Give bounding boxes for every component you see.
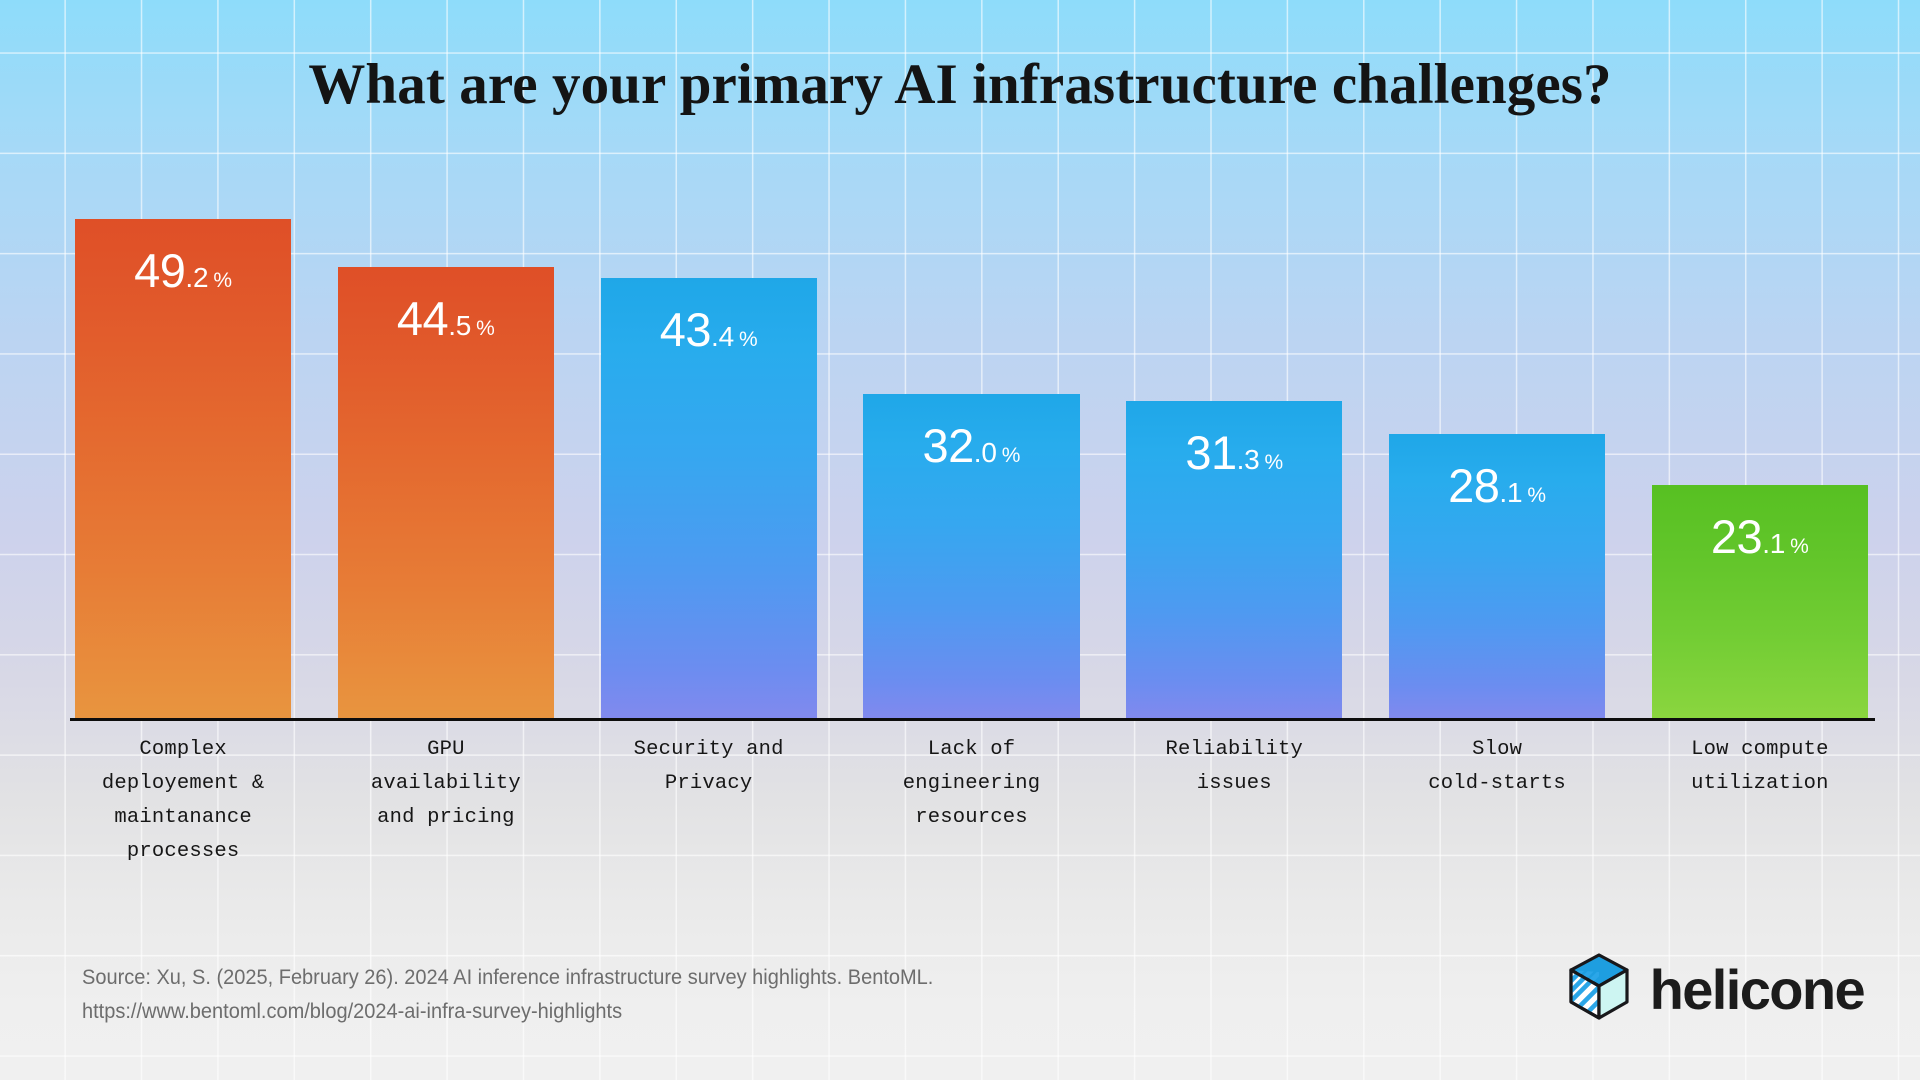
plot-area: 49.2%44.5%43.4%32.0%31.3%28.1%23.1% (75, 160, 1868, 720)
source-citation: Source: Xu, S. (2025, February 26). 2024… (82, 960, 933, 1028)
bar-value-fraction: .1 (1499, 477, 1522, 508)
bar-value-label: 31.3% (1126, 429, 1342, 476)
bar-value-percent-sign: % (1790, 535, 1809, 558)
bar-value-fraction: .1 (1762, 528, 1785, 559)
brand-lockup: helicone (1568, 952, 1864, 1027)
bar-value-whole: 44 (397, 292, 448, 345)
cube-logo-icon (1568, 952, 1630, 1027)
bar-value-percent-sign: % (213, 269, 232, 292)
bar-cell: 23.1% (1652, 160, 1868, 720)
bar-value-percent-sign: % (1002, 444, 1021, 467)
x-axis-label: Lack of engineering resources (863, 733, 1079, 835)
bar-value-fraction: .0 (974, 437, 997, 468)
bar-value-whole: 23 (1711, 510, 1762, 563)
bar-value-fraction: .2 (185, 262, 208, 293)
bar-cell: 28.1% (1389, 160, 1605, 720)
bar-value-whole: 28 (1448, 459, 1499, 512)
x-axis-label: Security and Privacy (601, 733, 817, 801)
bar-cell: 49.2% (75, 160, 291, 720)
bar: 49.2% (75, 219, 291, 720)
bar-value-label: 43.4% (601, 306, 817, 353)
bar-value-percent-sign: % (1527, 484, 1546, 507)
bar-value-label: 44.5% (338, 295, 554, 342)
bar-value-fraction: .5 (448, 310, 471, 341)
x-axis-label: Low compute utilization (1652, 733, 1868, 801)
bar-cell: 43.4% (601, 160, 817, 720)
bar: 23.1% (1652, 485, 1868, 720)
x-axis-label: Reliability issues (1126, 733, 1342, 801)
bar-value-whole: 49 (134, 244, 185, 297)
bar-value-percent-sign: % (1265, 451, 1284, 474)
bar-value-percent-sign: % (476, 317, 495, 340)
x-axis-label: Slow cold-starts (1389, 733, 1605, 801)
bar-value-fraction: .4 (711, 321, 734, 352)
bar-value-whole: 43 (660, 303, 711, 356)
bar-value-label: 23.1% (1652, 513, 1868, 560)
bar: 32.0% (863, 394, 1079, 720)
bar-value-label: 32.0% (863, 422, 1079, 469)
bar-cell: 44.5% (338, 160, 554, 720)
bar: 43.4% (601, 278, 817, 720)
bar-value-label: 28.1% (1389, 462, 1605, 509)
bar: 44.5% (338, 267, 554, 720)
bar-cell: 32.0% (863, 160, 1079, 720)
x-axis-label: GPU availability and pricing (338, 733, 554, 835)
bar: 31.3% (1126, 401, 1342, 720)
bar-value-percent-sign: % (739, 328, 758, 351)
bar-value-whole: 31 (1185, 426, 1236, 479)
bar-value-label: 49.2% (75, 247, 291, 294)
x-axis-label: Complex deployement & maintanance proces… (75, 733, 291, 869)
brand-name: helicone (1650, 962, 1864, 1018)
bar-series: 49.2%44.5%43.4%32.0%31.3%28.1%23.1% (75, 160, 1868, 720)
bar: 28.1% (1389, 434, 1605, 720)
x-axis-category-labels: Complex deployement & maintanance proces… (75, 733, 1868, 869)
chart-canvas: What are your primary AI infrastructure … (0, 0, 1920, 1080)
chart-title: What are your primary AI infrastructure … (0, 52, 1920, 117)
bar-cell: 31.3% (1126, 160, 1342, 720)
bar-value-fraction: .3 (1237, 444, 1260, 475)
x-axis-line (70, 718, 1875, 721)
bar-value-whole: 32 (923, 419, 974, 472)
